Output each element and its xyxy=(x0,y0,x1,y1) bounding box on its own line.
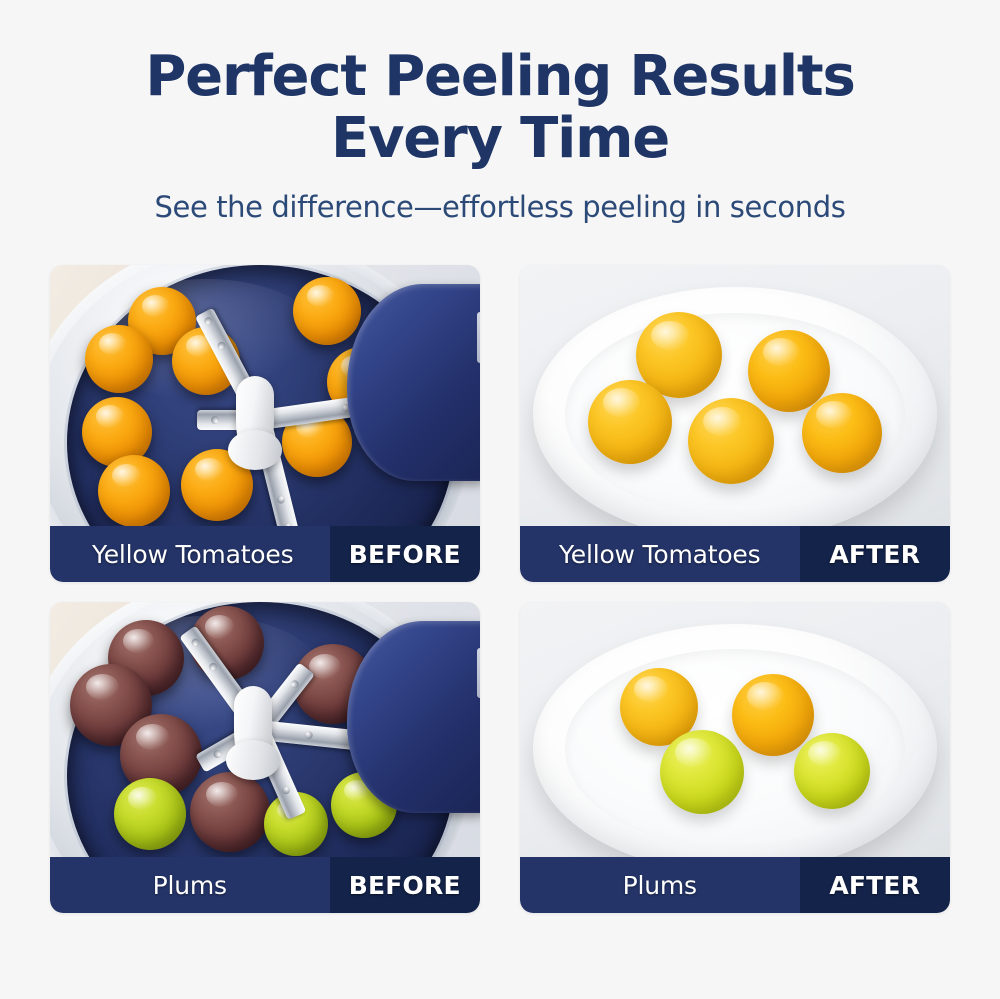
card-fruit-name: Yellow Tomatoes xyxy=(50,526,330,582)
fruit-peeled-yellow-tomato xyxy=(802,393,882,473)
fruit-yellow-tomato xyxy=(293,277,361,345)
page-title-line-1: Perfect Peeling Results xyxy=(145,44,854,109)
card-label-bar: Yellow Tomatoes BEFORE xyxy=(50,526,480,582)
product-comparison-infographic: Perfect Peeling Results Every Time See t… xyxy=(0,0,1000,999)
fruit-peeled-yellow-tomato xyxy=(688,398,774,484)
comparison-card-yellow-tomatoes-before[interactable]: Yellow Tomatoes BEFORE xyxy=(50,265,480,582)
card-fruit-name: Plums xyxy=(520,857,800,913)
fruit-yellow-tomato xyxy=(98,455,170,527)
card-fruit-name: Yellow Tomatoes xyxy=(520,526,800,582)
comparison-card-plums-before[interactable]: Plums BEFORE xyxy=(50,602,480,913)
fruit-yellow-tomato xyxy=(85,325,153,393)
card-state-badge: BEFORE xyxy=(330,857,481,913)
header: Perfect Peeling Results Every Time See t… xyxy=(0,46,1000,224)
peeler-center-hub xyxy=(234,686,272,774)
card-label-bar: Plums BEFORE xyxy=(50,857,480,913)
card-state-badge: BEFORE xyxy=(330,526,481,582)
fruit-green-plum xyxy=(114,778,186,850)
fruit-peeled-yellow-tomato xyxy=(588,380,672,464)
fruit-peeled-plum xyxy=(732,674,814,756)
fruit-peeled-plum xyxy=(660,730,744,814)
page-title-line-2: Every Time xyxy=(0,108,1000,170)
card-state-badge: AFTER xyxy=(800,526,951,582)
page-title: Perfect Peeling Results Every Time xyxy=(0,46,1000,170)
comparison-card-plums-after[interactable]: Plums AFTER xyxy=(520,602,950,913)
fruit-peeled-plum xyxy=(794,733,870,809)
card-state-badge: AFTER xyxy=(800,857,951,913)
comparison-grid: Yellow Tomatoes BEFORE Yellow Tomatoes A… xyxy=(50,265,950,913)
card-label-bar: Yellow Tomatoes AFTER xyxy=(520,526,950,582)
peeler-center-hub xyxy=(236,376,274,464)
card-label-bar: Plums AFTER xyxy=(520,857,950,913)
fruit-plum xyxy=(190,772,270,852)
page-subtitle: See the difference—effortless peeling in… xyxy=(0,190,1000,224)
card-fruit-name: Plums xyxy=(50,857,330,913)
comparison-card-yellow-tomatoes-after[interactable]: Yellow Tomatoes AFTER xyxy=(520,265,950,582)
